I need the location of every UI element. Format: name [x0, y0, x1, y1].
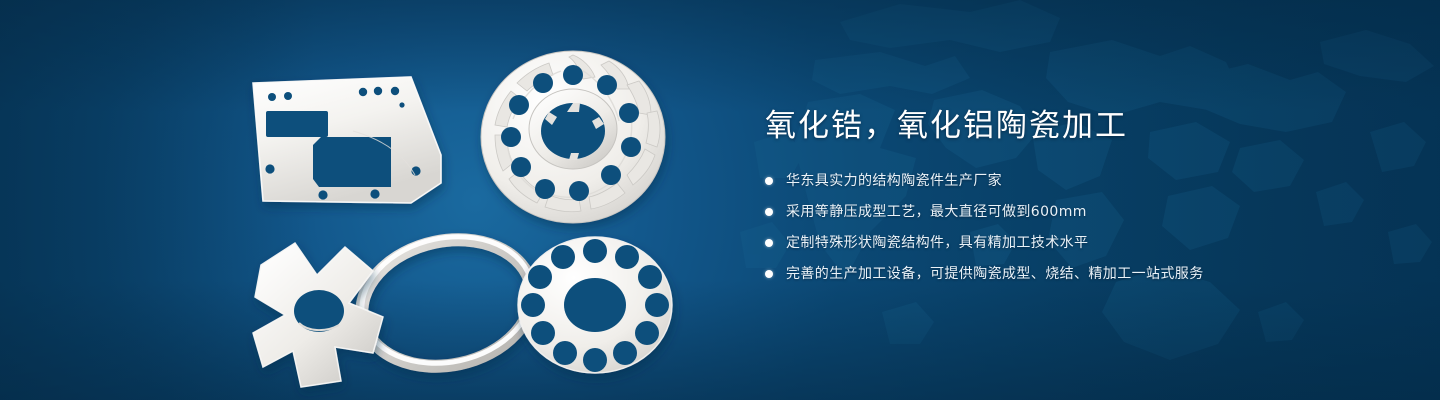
- banner-feature-list: 华东具实力的结构陶瓷件生产厂家 采用等静压成型工艺，最大直径可做到600mm 定…: [765, 170, 1385, 285]
- list-item: 采用等静压成型工艺，最大直径可做到600mm: [765, 201, 1385, 223]
- ceramic-product-photos: [235, 35, 725, 380]
- list-item: 完善的生产加工设备，可提供陶瓷成型、烧结、精加工一站式服务: [765, 263, 1385, 285]
- feature-text: 华东具实力的结构陶瓷件生产厂家: [786, 170, 1002, 192]
- ceramic-impeller: [481, 51, 665, 223]
- ceramic-cross-part: [253, 243, 383, 387]
- ceramic-processing-banner: 氧化锆，氧化铝陶瓷加工 华东具实力的结构陶瓷件生产厂家 采用等静压成型工艺，最大…: [0, 0, 1440, 400]
- ceramic-ring: [350, 221, 544, 381]
- bullet-dot-icon: [765, 270, 773, 278]
- ceramic-plate: [253, 77, 441, 203]
- bullet-dot-icon: [765, 177, 773, 185]
- banner-headline: 氧化锆，氧化铝陶瓷加工: [765, 104, 1385, 148]
- bullet-dot-icon: [765, 239, 773, 247]
- banner-copy: 氧化锆，氧化铝陶瓷加工 华东具实力的结构陶瓷件生产厂家 采用等静压成型工艺，最大…: [765, 104, 1385, 294]
- list-item: 定制特殊形状陶瓷结构件，具有精加工技术水平: [765, 232, 1385, 254]
- feature-text: 完善的生产加工设备，可提供陶瓷成型、烧结、精加工一站式服务: [786, 263, 1204, 285]
- bullet-dot-icon: [765, 208, 773, 216]
- ceramic-perforated-disc: [518, 237, 672, 373]
- feature-text: 定制特殊形状陶瓷结构件，具有精加工技术水平: [786, 232, 1088, 254]
- list-item: 华东具实力的结构陶瓷件生产厂家: [765, 170, 1385, 192]
- feature-text: 采用等静压成型工艺，最大直径可做到600mm: [786, 201, 1087, 223]
